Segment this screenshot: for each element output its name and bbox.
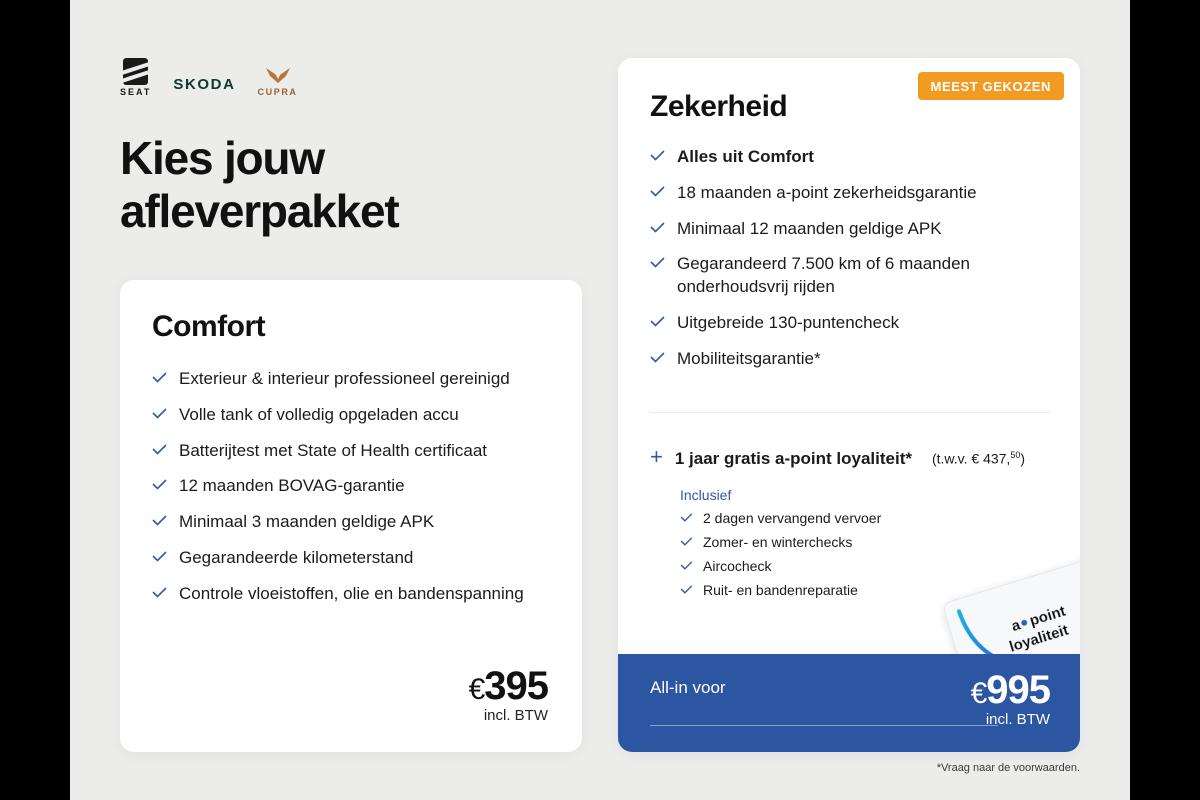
list-item: Batterijtest met State of Health certifi… (152, 440, 552, 463)
loyalty-sub-list: 2 dagen vervangend vervoer Zomer- en win… (680, 510, 1060, 598)
cupra-emblem-icon (265, 67, 291, 84)
check-icon (650, 352, 665, 363)
loyalty-worth-prefix: (t.w.v. € 437, (932, 451, 1010, 467)
list-item-label: Exterieur & interieur professioneel gere… (179, 368, 510, 391)
inclusief-label: Inclusief (680, 487, 1060, 503)
package-card-comfort[interactable]: Comfort Exterieur & interieur profession… (120, 280, 582, 752)
check-icon (650, 316, 665, 327)
check-icon (152, 372, 167, 383)
currency-symbol: € (971, 677, 987, 710)
allin-rule (650, 725, 998, 726)
svg-text:point: point (1028, 603, 1068, 630)
list-item-label: Zomer- en winterchecks (703, 534, 852, 550)
list-item: Minimaal 3 maanden geldige APK (152, 511, 552, 534)
list-item-label: 2 dagen vervangend vervoer (703, 510, 881, 526)
list-item: Aircocheck (680, 558, 1060, 574)
check-icon (152, 408, 167, 419)
list-item-label: Uitgebreide 130-puntencheck (677, 312, 899, 335)
loyalty-worth-cents: 50 (1010, 450, 1020, 460)
zekerheid-price-note: incl. BTW (971, 711, 1050, 728)
package-card-zekerheid[interactable]: MEEST GEKOZEN Zekerheid Alles uit Comfor… (618, 58, 1080, 752)
list-item-label: Alles uit Comfort (677, 146, 814, 169)
list-item-label: Volle tank of volledig opgeladen accu (179, 404, 459, 427)
list-item-label: 12 maanden BOVAG-garantie (179, 475, 405, 498)
comfort-price-block: €395 incl. BTW (469, 664, 548, 724)
cupra-logo-label: CUPRA (258, 87, 298, 97)
list-item: Ruit- en bandenreparatie (680, 582, 1060, 598)
skoda-logo-label: SKODA (173, 76, 235, 93)
loyalty-header: + 1 jaar gratis a-point loyaliteit* (t.w… (650, 446, 1060, 469)
currency-symbol: € (469, 673, 485, 706)
comfort-price-amount: 395 (484, 664, 548, 708)
seat-emblem-icon (123, 58, 148, 85)
zekerheid-card-title: Zekerheid (650, 90, 787, 124)
list-item: Exterieur & interieur professioneel gere… (152, 368, 552, 391)
plus-icon: + (650, 446, 663, 468)
loyalty-section: + 1 jaar gratis a-point loyaliteit* (t.w… (650, 446, 1060, 606)
list-item: 18 maanden a-point zekerheidsgarantie (650, 182, 1060, 205)
svg-text:loyaliteit: loyaliteit (1007, 622, 1070, 656)
list-item-label: Minimaal 12 maanden geldige APK (677, 218, 942, 241)
list-item-label: Gegarandeerd 7.500 km of 6 maanden onder… (677, 253, 1060, 299)
comfort-feature-list: Exterieur & interieur professioneel gere… (152, 368, 552, 618)
check-icon (650, 257, 665, 268)
check-icon (680, 561, 693, 570)
list-item: Volle tank of volledig opgeladen accu (152, 404, 552, 427)
allin-price-bar: All-in voor €995 incl. BTW (618, 654, 1080, 752)
comfort-price: €395 (469, 664, 548, 709)
page-title-line1: Kies jouw (120, 132, 324, 184)
page-canvas: SEAT SKODA CUPRA Kies jouw afleverpakket… (70, 0, 1130, 800)
check-icon (680, 513, 693, 522)
list-item: Controle vloeistoffen, olie en bandenspa… (152, 583, 552, 606)
zekerheid-price-amount: 995 (986, 668, 1050, 712)
page-title-line2: afleverpakket (120, 185, 398, 237)
screenshot-stage: SEAT SKODA CUPRA Kies jouw afleverpakket… (0, 0, 1200, 800)
check-icon (680, 537, 693, 546)
list-item-label: Minimaal 3 maanden geldige APK (179, 511, 434, 534)
check-icon (152, 515, 167, 526)
list-item: Alles uit Comfort (650, 146, 1060, 169)
list-item: Gegarandeerde kilometerstand (152, 547, 552, 570)
loyalty-worth-suffix: ) (1020, 451, 1025, 467)
list-item-label: Gegarandeerde kilometerstand (179, 547, 413, 570)
page-title: Kies jouw afleverpakket (120, 132, 550, 239)
check-icon (152, 587, 167, 598)
zekerheid-price-block: €995 incl. BTW (971, 668, 1050, 728)
status-badge: MEEST GEKOZEN (918, 72, 1064, 100)
check-icon (650, 186, 665, 197)
list-item: Zomer- en winterchecks (680, 534, 1060, 550)
list-item: Minimaal 12 maanden geldige APK (650, 218, 1060, 241)
comfort-price-note: incl. BTW (469, 707, 548, 724)
list-item: Uitgebreide 130-puntencheck (650, 312, 1060, 335)
zekerheid-feature-list: Alles uit Comfort 18 maanden a-point zek… (650, 146, 1060, 383)
list-item-label: Ruit- en bandenreparatie (703, 582, 858, 598)
check-icon (152, 479, 167, 490)
cupra-logo: CUPRA (258, 67, 298, 97)
list-item-label: Controle vloeistoffen, olie en bandenspa… (179, 583, 524, 606)
seat-logo: SEAT (120, 58, 151, 97)
list-item: Mobiliteitsgarantie* (650, 348, 1060, 371)
footnote: *Vraag naar de voorwaarden. (937, 762, 1080, 774)
loyalty-worth: (t.w.v. € 437,50) (932, 450, 1025, 467)
list-item-label: Aircocheck (703, 558, 771, 574)
list-item: 2 dagen vervangend vervoer (680, 510, 1060, 526)
loyalty-title: 1 jaar gratis a-point loyaliteit* (675, 449, 912, 469)
comfort-card-title: Comfort (152, 310, 265, 344)
check-icon (680, 585, 693, 594)
list-item: Gegarandeerd 7.500 km of 6 maanden onder… (650, 253, 1060, 299)
svg-text:a: a (1009, 616, 1023, 635)
check-icon (152, 444, 167, 455)
section-divider (650, 412, 1050, 413)
zekerheid-price: €995 (971, 668, 1050, 713)
check-icon (152, 551, 167, 562)
list-item-label: 18 maanden a-point zekerheidsgarantie (677, 182, 977, 205)
list-item: 12 maanden BOVAG-garantie (152, 475, 552, 498)
seat-logo-label: SEAT (120, 87, 151, 97)
check-icon (650, 150, 665, 161)
allin-label: All-in voor (650, 678, 726, 698)
list-item-label: Batterijtest met State of Health certifi… (179, 440, 487, 463)
brand-logo-row: SEAT SKODA CUPRA (120, 58, 298, 97)
check-icon (650, 222, 665, 233)
list-item-label: Mobiliteitsgarantie* (677, 348, 821, 371)
